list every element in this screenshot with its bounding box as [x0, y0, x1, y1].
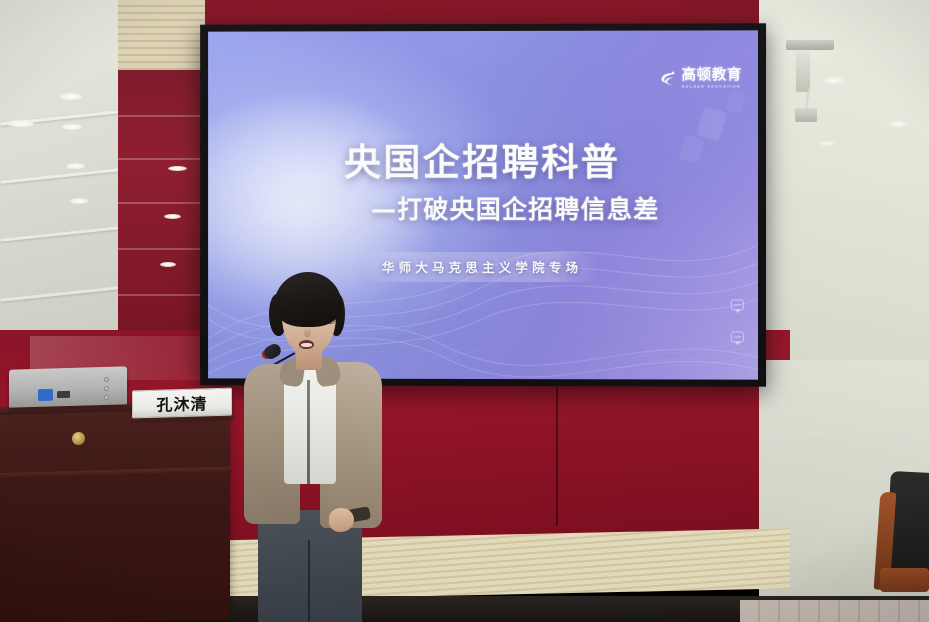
presenter-mouth	[299, 340, 314, 349]
projector-mount	[786, 40, 834, 50]
nameplate: 孔沐清	[132, 388, 232, 419]
lecture-hall-scene: 高顿教育 GOLDEN EDUCATION 央国企招聘科普 —打破央国企招聘信息…	[0, 0, 929, 622]
projector-junction-box	[795, 108, 817, 122]
chair-seat	[880, 568, 929, 592]
laptop-sticker	[38, 389, 53, 401]
swoosh-logo-icon	[658, 69, 677, 88]
wall-light-icon	[817, 140, 837, 147]
ceiling-light-icon	[70, 198, 88, 204]
nameplate-text: 孔沐清	[156, 390, 207, 415]
logo-text-cn: 高顿教育	[682, 69, 742, 84]
ceiling-light-icon	[160, 262, 176, 267]
ceiling-light-icon	[168, 166, 187, 171]
presenter-trouser-seam	[308, 540, 310, 622]
presenter-hair	[274, 272, 342, 327]
podium	[0, 409, 230, 622]
wall-light-icon	[887, 120, 909, 128]
laptop-icon	[9, 366, 127, 407]
ceiling-light-icon	[8, 120, 34, 127]
slide-subtitle: —打破央国企招聘信息差	[208, 190, 758, 226]
ceiling-light-icon	[62, 124, 82, 130]
slide-title: 央国企招聘科普	[208, 132, 758, 186]
wall-light-icon	[821, 76, 847, 85]
slide-tagline: 华师大马克思主义学院专场	[365, 252, 599, 282]
brand-logo: 高顿教育 GOLDEN EDUCATION	[658, 69, 741, 89]
wood-slat-panel-top	[118, 0, 208, 70]
laptop-sticker-secondary	[57, 391, 70, 398]
presenter-jacket-zip	[307, 380, 310, 484]
ceiling-light-icon	[60, 93, 82, 100]
presenter-nose	[304, 327, 311, 337]
ceiling-light-icon	[66, 163, 85, 169]
ceiling-light-icon	[164, 214, 181, 219]
laptop-port-indicators	[104, 377, 109, 400]
speech-bubble-icon	[731, 299, 744, 310]
presenter	[236, 272, 396, 622]
speech-bubble-icon	[731, 331, 744, 342]
logo-text-en: GOLDEN EDUCATION	[682, 85, 742, 89]
floor-tiles	[740, 600, 929, 622]
decorative-hexagon	[725, 91, 747, 115]
projector-icon	[796, 50, 810, 92]
red-wall-strip-left	[118, 70, 208, 332]
